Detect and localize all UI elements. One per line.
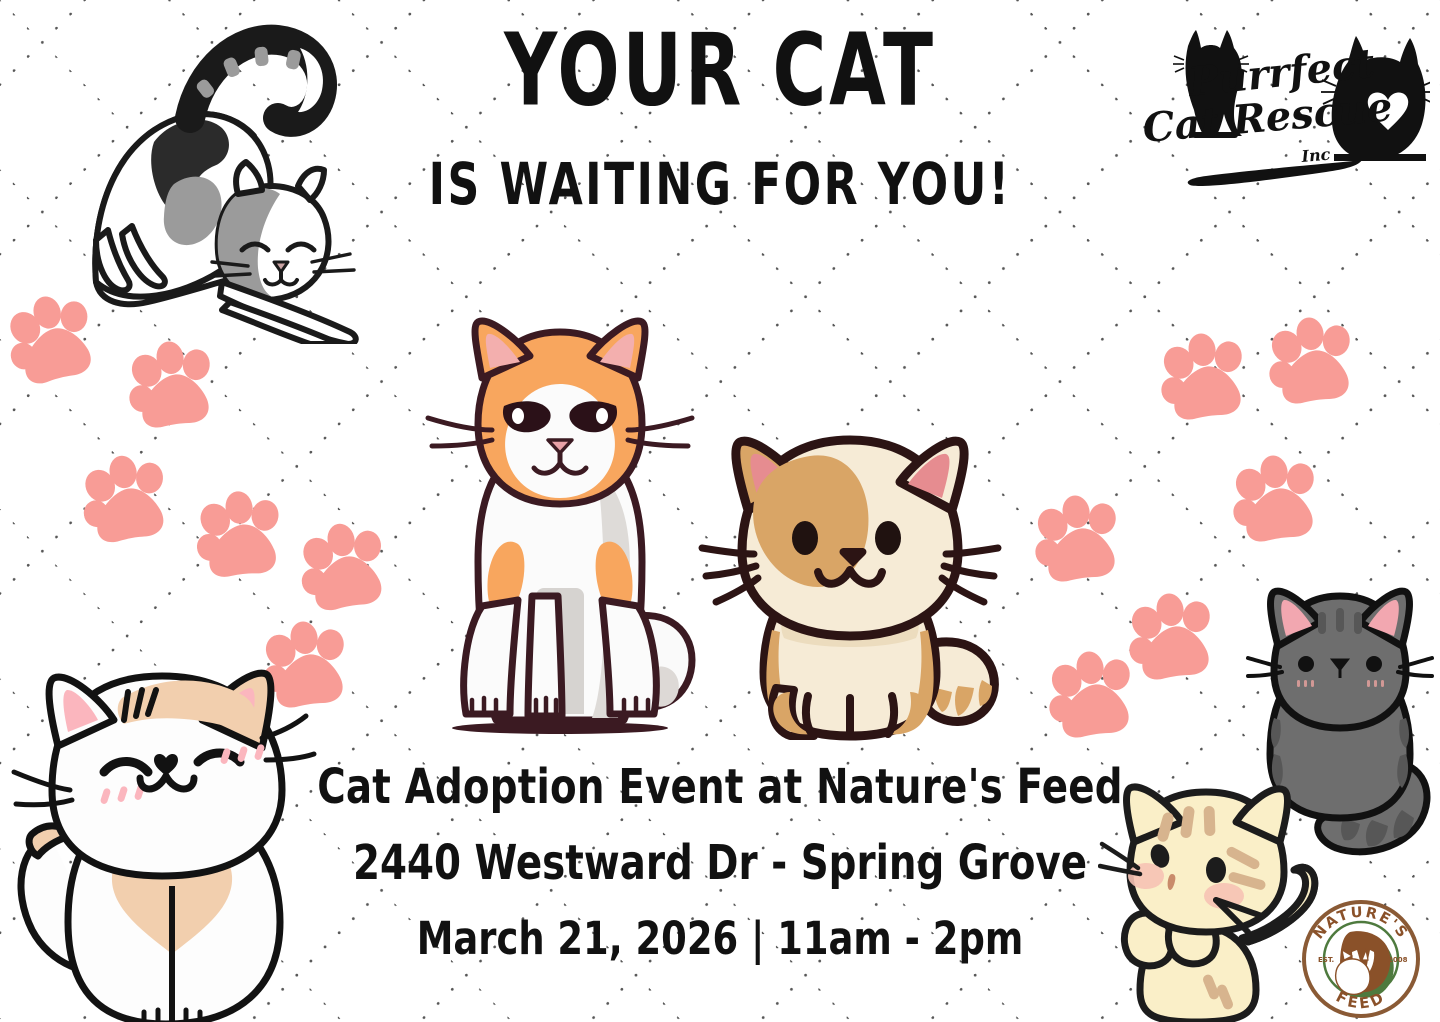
purrfect-cat-rescue-logo: Purrfect Cat Rescue Inc [1130,18,1430,188]
sitting-orange-white-cat-illustration [410,300,710,740]
paw-print [292,512,403,623]
event-venue-line: Cat Adoption Event at Nature's Feed [22,760,1419,815]
paw-print [122,332,230,440]
feed-logo-est-text: EST. [1318,956,1334,964]
event-datetime-line: March 21, 2026 | 11am - 2pm [22,912,1419,965]
sitting-calico-kitten-illustration [690,420,1010,750]
natures-feed-logo: NATURE'S FEED EST. 2008 [1300,898,1422,1020]
paw-print [74,444,185,555]
event-details-block: Cat Adoption Event at Nature's Feed 2440… [0,760,1440,956]
paw-print [1226,446,1334,554]
paw-print [1154,324,1262,432]
rescue-logo-word-3: Inc [1300,145,1332,167]
poster-canvas: YOUR CAT IS WAITING FOR YOU! Cat Adoptio… [0,0,1440,1022]
paw-print [191,483,297,589]
feed-logo-year-text: 2008 [1388,956,1408,964]
paw-print [1028,486,1136,594]
paw-print [1262,308,1370,416]
event-address-line: 2440 Westward Dr - Spring Grove [22,836,1419,891]
paw-print [1042,642,1150,750]
